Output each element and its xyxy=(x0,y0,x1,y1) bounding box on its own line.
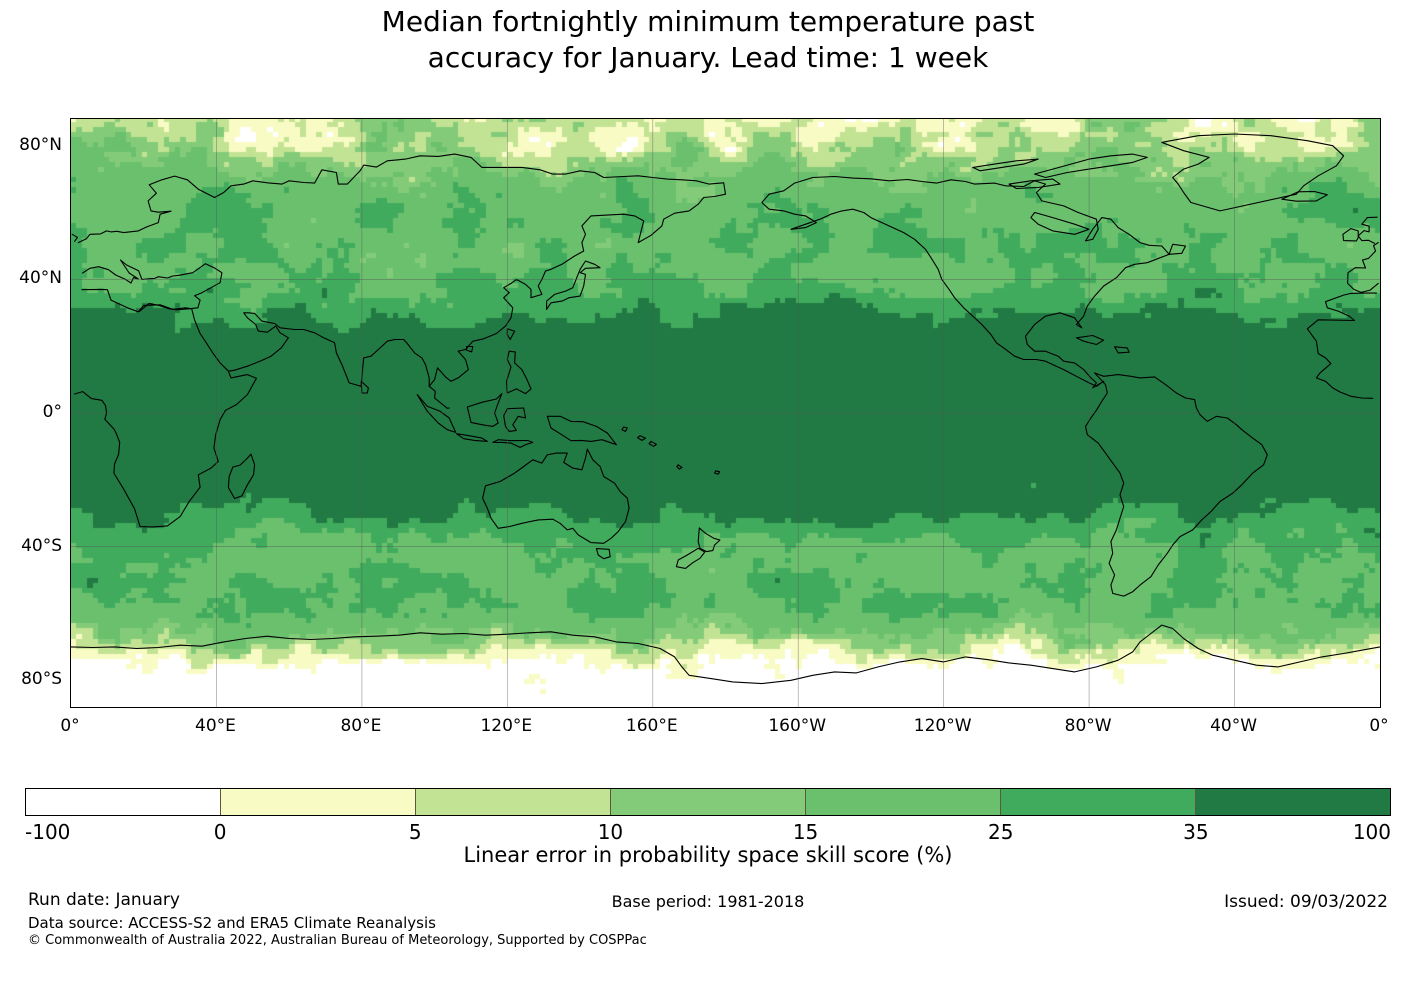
title-line-2: accuracy for January. Lead time: 1 week xyxy=(0,40,1416,76)
colorbar-segment-5 xyxy=(1000,789,1195,815)
longitude-tick-1: 40°E xyxy=(195,716,236,736)
longitude-tick-9: 0° xyxy=(1369,716,1388,736)
base-period-text: Base period: 1981-2018 xyxy=(0,892,1416,911)
colorbar-tick-1: 0 xyxy=(214,820,227,844)
colorbar-segment-6 xyxy=(1195,789,1390,815)
latitude-tick-2: 0° xyxy=(43,402,62,422)
colorbar-tick-6: 35 xyxy=(1183,820,1208,844)
longitude-tick-3: 120°E xyxy=(480,716,532,736)
title-line-1: Median fortnightly minimum temperature p… xyxy=(0,4,1416,40)
colorbar-tick-4: 15 xyxy=(793,820,818,844)
figure-title: Median fortnightly minimum temperature p… xyxy=(0,4,1416,76)
figure-root: Median fortnightly minimum temperature p… xyxy=(0,0,1416,990)
colorbar-tick-7: 100 xyxy=(1353,820,1391,844)
colorbar-segment-1 xyxy=(220,789,415,815)
latitude-tick-0: 80°N xyxy=(19,135,62,155)
graticule-grid xyxy=(71,119,1380,707)
colorbar-segment-3 xyxy=(610,789,805,815)
latitude-tick-4: 80°S xyxy=(21,669,62,689)
colorbar-segment-2 xyxy=(415,789,610,815)
colorbar-tick-0: -100 xyxy=(25,820,70,844)
longitude-tick-5: 160°W xyxy=(768,716,826,736)
colorbar-tick-3: 10 xyxy=(598,820,623,844)
copyright-text: © Commonwealth of Australia 2022, Austra… xyxy=(28,933,647,948)
data-source-text: Data source: ACCESS-S2 and ERA5 Climate … xyxy=(28,914,436,932)
longitude-tick-0: 0° xyxy=(60,716,79,736)
issued-date-text: Issued: 09/03/2022 xyxy=(1224,892,1388,912)
colorbar-segment-4 xyxy=(805,789,1000,815)
latitude-tick-1: 40°N xyxy=(19,268,62,288)
figure-footer: Run date: January Base period: 1981-2018… xyxy=(0,890,1416,960)
colorbar-tick-5: 25 xyxy=(988,820,1013,844)
colorbar-tick-2: 5 xyxy=(409,820,422,844)
colorbar-axis-label: Linear error in probability space skill … xyxy=(0,843,1416,867)
longitude-tick-6: 120°W xyxy=(914,716,972,736)
longitude-tick-8: 40°W xyxy=(1210,716,1257,736)
longitude-tick-2: 80°E xyxy=(340,716,381,736)
colorbar-segment-0 xyxy=(26,789,220,815)
longitude-tick-4: 160°E xyxy=(626,716,678,736)
longitude-tick-7: 80°W xyxy=(1065,716,1112,736)
latitude-tick-3: 40°S xyxy=(21,536,62,556)
map-axes xyxy=(70,118,1381,708)
colorbar xyxy=(25,788,1391,816)
